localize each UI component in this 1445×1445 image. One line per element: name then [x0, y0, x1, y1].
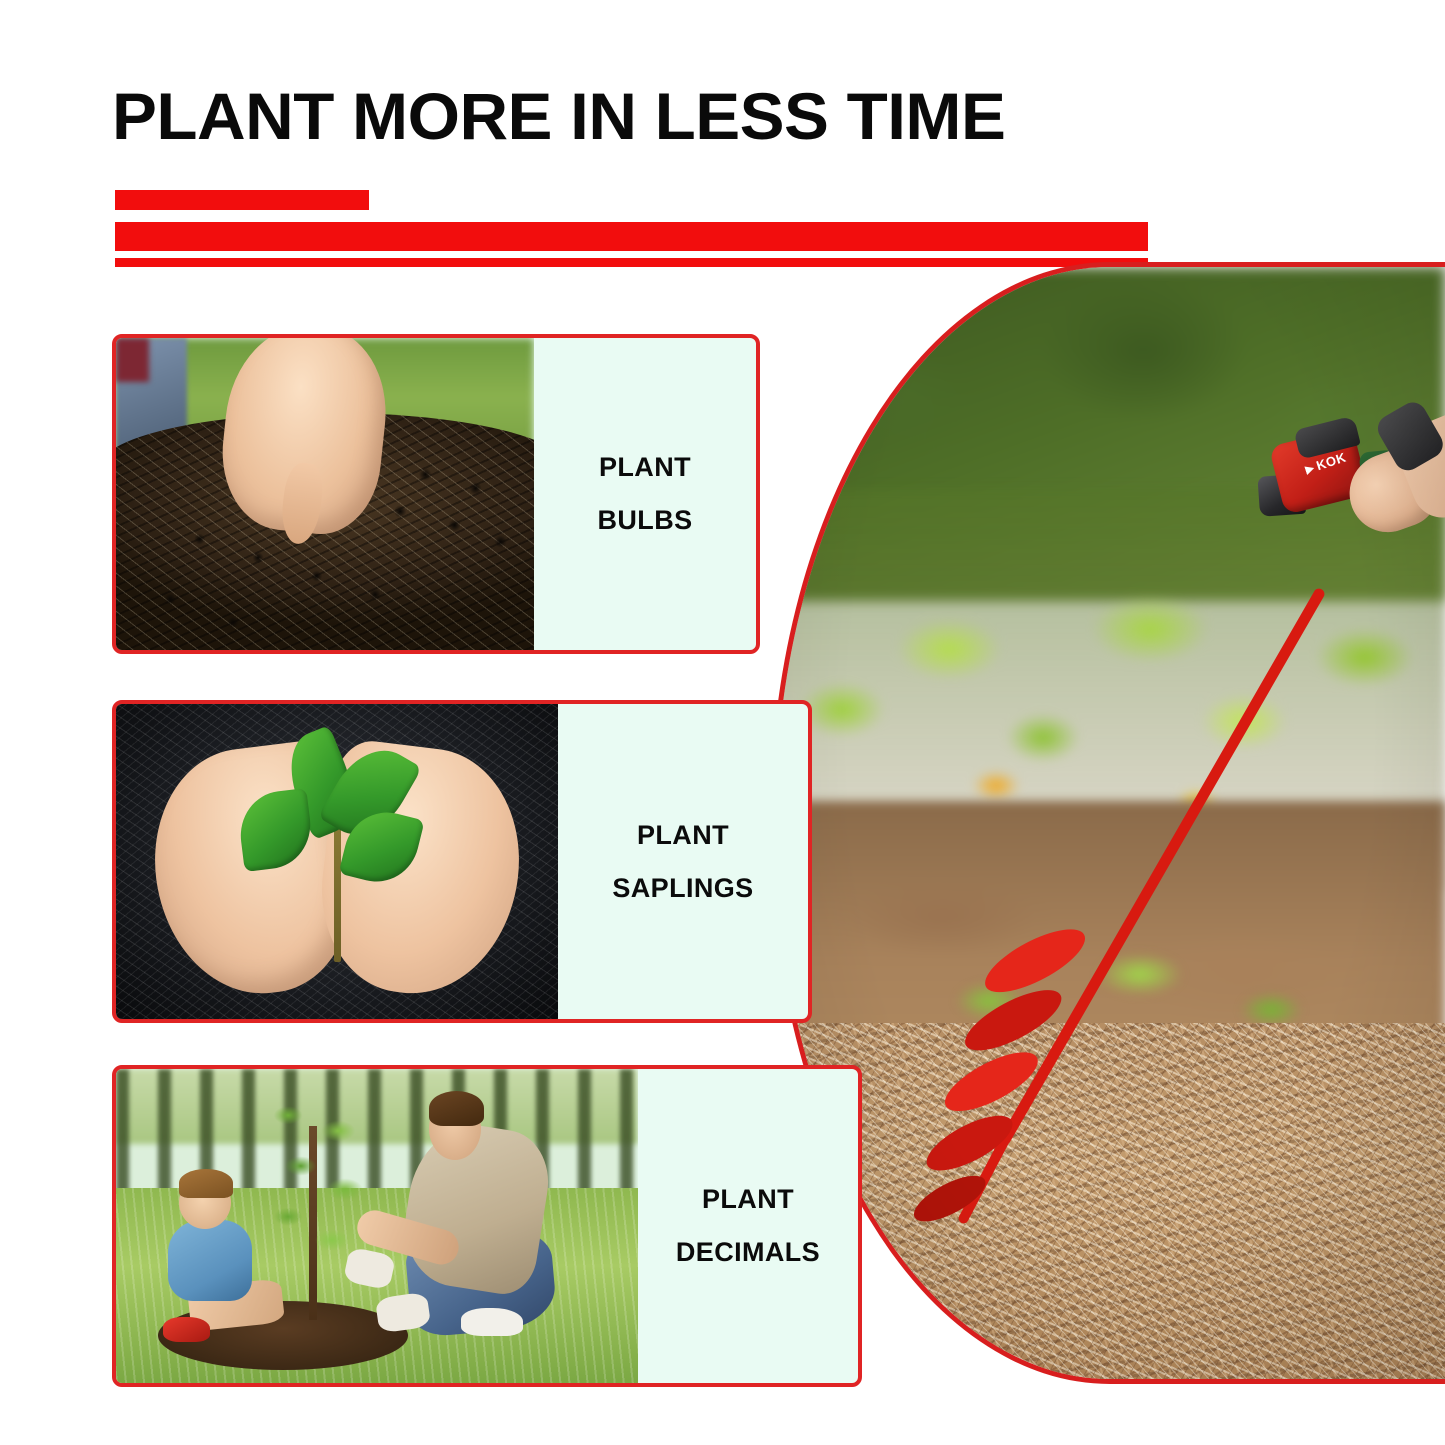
feature-photo-plant-bulbs	[116, 338, 534, 650]
page-title: PLANT MORE IN LESS TIME	[112, 78, 1005, 154]
boy-red-shoe	[163, 1317, 210, 1342]
feature-photo-plant-saplings	[116, 704, 558, 1019]
feature-label-line2: BULBS	[598, 507, 693, 534]
sapling-stem	[334, 811, 341, 962]
brand-triangle-icon	[1304, 464, 1315, 475]
feature-label-line1: PLANT	[599, 454, 691, 481]
feature-card-plant-bulbs[interactable]: PLANT BULBS	[112, 334, 760, 654]
boy-torso	[168, 1220, 252, 1302]
red-shirt	[116, 338, 149, 382]
feature-card-plant-decimals[interactable]: PLANT DECIMALS	[112, 1065, 862, 1387]
feature-label-plant-decimals: PLANT DECIMALS	[638, 1069, 858, 1383]
accent-bar-long	[115, 222, 1148, 251]
feature-label-plant-bulbs: PLANT BULBS	[534, 338, 756, 650]
product-infographic: PLANT MORE IN LESS TIME	[0, 0, 1445, 1445]
feature-label-line2: DECIMALS	[676, 1239, 820, 1266]
hero-photo-image: KOK	[775, 267, 1445, 1379]
feature-label-line1: PLANT	[702, 1186, 794, 1213]
feature-label-line2: SAPLINGS	[612, 875, 753, 902]
feature-card-plant-saplings[interactable]: PLANT SAPLINGS	[112, 700, 812, 1023]
accent-bar-thin	[115, 258, 1148, 267]
man-sneaker	[461, 1308, 524, 1336]
feature-photo-plant-decimals	[116, 1069, 638, 1383]
feature-label-plant-saplings: PLANT SAPLINGS	[558, 704, 808, 1019]
hero-photo: KOK	[770, 262, 1445, 1384]
boy-hair	[179, 1169, 234, 1197]
feature-label-line1: PLANT	[637, 822, 729, 849]
accent-bar-short	[115, 190, 369, 210]
man-hair	[429, 1091, 484, 1126]
